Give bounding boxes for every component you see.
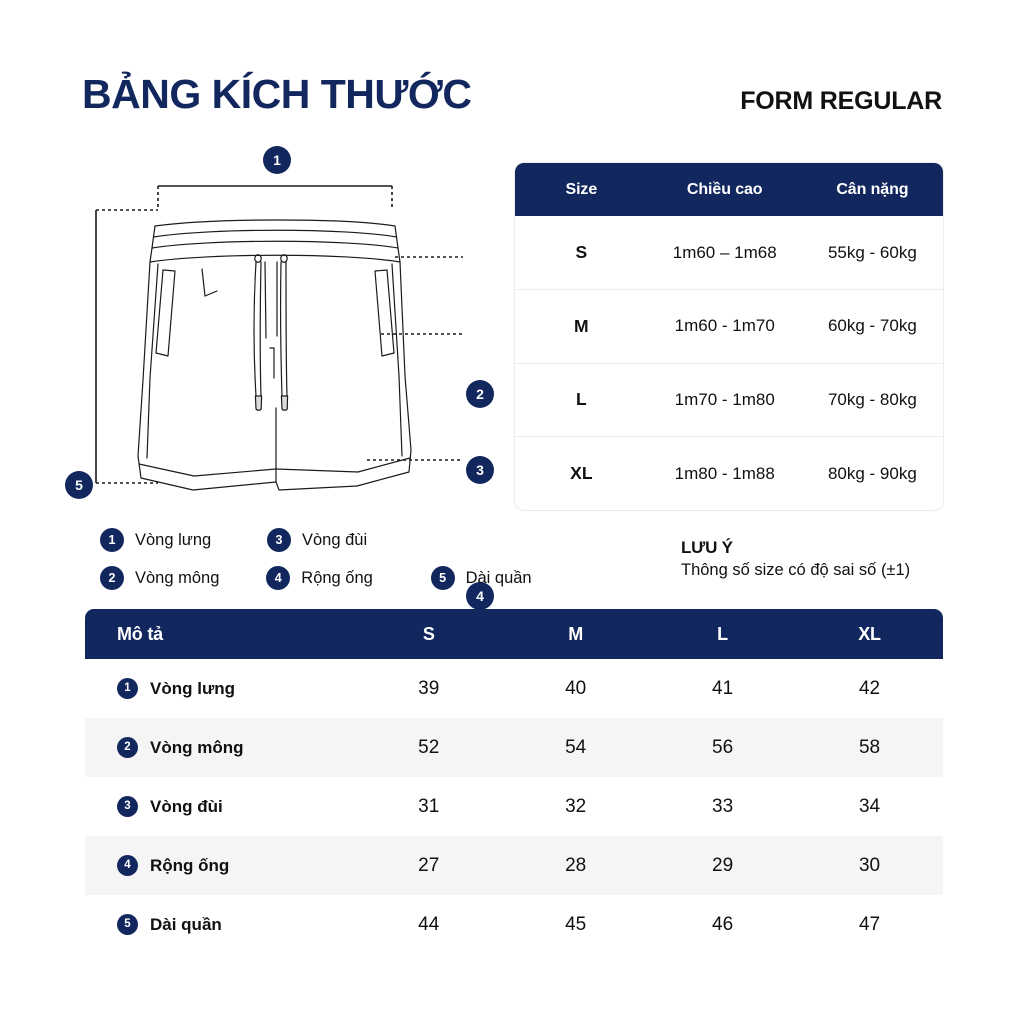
cell-m: 28 xyxy=(502,836,649,895)
cell-description: 1 Vòng lưng xyxy=(85,659,355,718)
cell-xl: 42 xyxy=(796,659,943,718)
row-label: Vòng mông xyxy=(150,738,243,758)
table-row: M 1m60 - 1m70 60kg - 70kg xyxy=(515,290,943,364)
cell-m: 54 xyxy=(502,718,649,777)
cell-l: 29 xyxy=(649,836,796,895)
note-block: LƯU Ý Thông số size có độ sai số (±1) xyxy=(681,538,961,580)
cell-size: S xyxy=(515,216,648,290)
table-row: 3 Vòng đùi 31 32 33 34 xyxy=(85,777,943,836)
cell-description: 5 Dài quần xyxy=(85,895,355,954)
cell-l: 56 xyxy=(649,718,796,777)
row-badge-5: 5 xyxy=(117,914,138,935)
legend-badge-5: 5 xyxy=(431,566,455,590)
row-badge-4: 4 xyxy=(117,855,138,876)
cell-xl: 34 xyxy=(796,777,943,836)
legend-item-vong-lung: 1 Vòng lưng xyxy=(100,528,267,552)
cell-l: 33 xyxy=(649,777,796,836)
col-header-xl: XL xyxy=(796,609,943,659)
cell-height: 1m60 – 1m68 xyxy=(648,216,802,290)
legend-badge-1: 1 xyxy=(100,528,124,552)
legend-label: Vòng đùi xyxy=(302,531,367,550)
size-table-body: S 1m60 – 1m68 55kg - 60kg M 1m60 - 1m70 … xyxy=(515,216,943,510)
row-badge-1: 1 xyxy=(117,678,138,699)
col-header-l: L xyxy=(649,609,796,659)
legend-item-dai-quan: 5 Dài quần xyxy=(431,566,560,590)
diagram-callout-3: 3 xyxy=(466,456,494,484)
table-row: 2 Vòng mông 52 54 56 58 xyxy=(85,718,943,777)
cell-m: 45 xyxy=(502,895,649,954)
diagram-callout-5: 5 xyxy=(65,471,93,499)
cell-s: 31 xyxy=(355,777,502,836)
size-chart-page: BẢNG KÍCH THƯỚC FORM REGULAR xyxy=(0,0,1024,1024)
cell-size: M xyxy=(515,290,648,364)
legend-label: Vòng lưng xyxy=(135,531,211,550)
legend-badge-3: 3 xyxy=(267,528,291,552)
note-title: LƯU Ý xyxy=(681,538,961,558)
measurement-table-header: Mô tả S M L XL xyxy=(85,609,943,659)
size-table: Size Chiều cao Cân nặng S 1m60 – 1m68 55… xyxy=(515,163,943,510)
legend-row: 1 Vòng lưng 3 Vòng đùi xyxy=(100,521,560,559)
cell-xl: 30 xyxy=(796,836,943,895)
col-header-m: M xyxy=(502,609,649,659)
cell-weight: 70kg - 80kg xyxy=(802,363,943,437)
shorts-diagram: 1 2 3 4 5 xyxy=(55,138,505,513)
table-row: S 1m60 – 1m68 55kg - 60kg xyxy=(515,216,943,290)
cell-height: 1m60 - 1m70 xyxy=(648,290,802,364)
measurement-table: Mô tả S M L XL 1 Vòng lưng 39 40 xyxy=(85,609,943,954)
legend-label: Vòng mông xyxy=(135,569,219,588)
legend-badge-4: 4 xyxy=(266,566,290,590)
col-header-description: Mô tả xyxy=(85,609,355,659)
cell-height: 1m70 - 1m80 xyxy=(648,363,802,437)
table-header-row: Mô tả S M L XL xyxy=(85,609,943,659)
note-text: Thông số size có độ sai số (±1) xyxy=(681,561,961,580)
table-row: L 1m70 - 1m80 70kg - 80kg xyxy=(515,363,943,437)
legend-label: Rộng ống xyxy=(301,569,373,588)
row-label: Rộng ống xyxy=(150,856,229,876)
measurement-legend: 1 Vòng lưng 3 Vòng đùi 2 Vòng mông 4 Rộn… xyxy=(100,521,560,597)
cell-height: 1m80 - 1m88 xyxy=(648,437,802,511)
row-badge-3: 3 xyxy=(117,796,138,817)
legend-item-vong-dui: 3 Vòng đùi xyxy=(267,528,432,552)
legend-badge-2: 2 xyxy=(100,566,124,590)
table-header-row: Size Chiều cao Cân nặng xyxy=(515,163,943,216)
page-title: BẢNG KÍCH THƯỚC xyxy=(82,72,471,117)
cell-size: XL xyxy=(515,437,648,511)
table-row: 5 Dài quần 44 45 46 47 xyxy=(85,895,943,954)
col-header-s: S xyxy=(355,609,502,659)
cell-description: 4 Rộng ống xyxy=(85,836,355,895)
form-type-label: FORM REGULAR xyxy=(740,87,942,116)
col-header-weight: Cân nặng xyxy=(802,163,943,216)
legend-row: 2 Vòng mông 4 Rộng ống 5 Dài quần xyxy=(100,559,560,597)
cell-weight: 80kg - 90kg xyxy=(802,437,943,511)
cell-l: 41 xyxy=(649,659,796,718)
legend-item-rong-ong: 4 Rộng ống xyxy=(266,566,430,590)
cell-xl: 47 xyxy=(796,895,943,954)
measurement-table-container: Mô tả S M L XL 1 Vòng lưng 39 40 xyxy=(85,609,943,954)
cell-weight: 60kg - 70kg xyxy=(802,290,943,364)
diagram-callout-2: 2 xyxy=(466,380,494,408)
cell-description: 3 Vòng đùi xyxy=(85,777,355,836)
cell-m: 32 xyxy=(502,777,649,836)
legend-item-vong-mong: 2 Vòng mông xyxy=(100,566,266,590)
size-recommendation-table: Size Chiều cao Cân nặng S 1m60 – 1m68 55… xyxy=(515,163,943,510)
cell-s: 27 xyxy=(355,836,502,895)
row-label: Vòng đùi xyxy=(150,797,223,817)
cell-s: 44 xyxy=(355,895,502,954)
cell-weight: 55kg - 60kg xyxy=(802,216,943,290)
table-row: XL 1m80 - 1m88 80kg - 90kg xyxy=(515,437,943,511)
cell-s: 52 xyxy=(355,718,502,777)
cell-description: 2 Vòng mông xyxy=(85,718,355,777)
row-badge-2: 2 xyxy=(117,737,138,758)
cell-size: L xyxy=(515,363,648,437)
row-label: Vòng lưng xyxy=(150,679,235,699)
table-row: 4 Rộng ống 27 28 29 30 xyxy=(85,836,943,895)
cell-s: 39 xyxy=(355,659,502,718)
cell-m: 40 xyxy=(502,659,649,718)
col-header-height: Chiều cao xyxy=(648,163,802,216)
measurement-table-body: 1 Vòng lưng 39 40 41 42 2 Vòng mông xyxy=(85,659,943,954)
col-header-size: Size xyxy=(515,163,648,216)
table-row: 1 Vòng lưng 39 40 41 42 xyxy=(85,659,943,718)
legend-label: Dài quần xyxy=(466,569,532,588)
shorts-line-art xyxy=(55,138,505,513)
cell-l: 46 xyxy=(649,895,796,954)
size-table-header: Size Chiều cao Cân nặng xyxy=(515,163,943,216)
cell-xl: 58 xyxy=(796,718,943,777)
row-label: Dài quần xyxy=(150,915,222,935)
diagram-callout-1: 1 xyxy=(263,146,291,174)
